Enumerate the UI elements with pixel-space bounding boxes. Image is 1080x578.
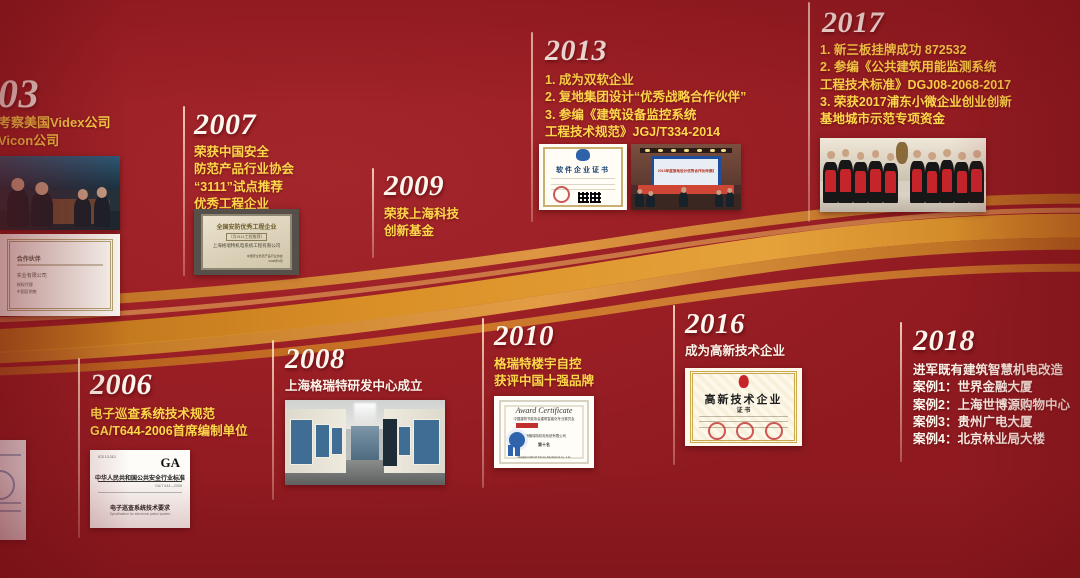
- plaque-face: 全国安防优秀工程企业 （为3111工程推荐） 上海格瑞特机电系统工程有限公司 中…: [194, 209, 299, 275]
- entry-description: 格瑞特楼宇自控 获评中国十强品牌: [494, 356, 684, 391]
- partial-certificate-bottom-left: [0, 440, 26, 540]
- booth-visitor: [7, 189, 29, 227]
- rosette-ribbon: [515, 445, 520, 457]
- year-label: 2010: [494, 322, 554, 351]
- year-label: 2017: [822, 8, 884, 38]
- entry-divider: [78, 358, 80, 538]
- certificate-face: 合作伙伴 实业有限公司 授权代理 中国区销售: [0, 234, 120, 316]
- qr-code: [578, 192, 589, 203]
- entry-divider: [183, 106, 185, 276]
- timeline-entry-2008: 2008 上海格瑞特研发中心成立: [272, 340, 472, 500]
- certificate-note: 授权代理: [17, 282, 33, 288]
- entry-description: 荣获上海科技 创新基金: [384, 206, 534, 241]
- timeline-entry-2010: 2010 格瑞特楼宇自控 获评中国十强品牌 Award Certificate …: [482, 318, 682, 488]
- stage-attendee: [715, 194, 724, 208]
- entry-description: 1. 新三板挂牌成功 872532 2. 参编《公共建筑用能监测系统 工程技术标…: [820, 42, 1080, 128]
- entry-description: 电子巡查系统技术规范 GA/T644-2006首席编制单位: [90, 406, 290, 441]
- year-label: 2013: [545, 36, 607, 66]
- wall-poster: [331, 427, 343, 455]
- team-member: [910, 161, 925, 203]
- team-member: [940, 160, 955, 203]
- entry-divider: [900, 322, 902, 462]
- entry-description: 上海格瑞特研发中心成立: [285, 378, 475, 395]
- timeline-entry-2016: 2016 成为高新技术企业 高新技术企业 证 书: [673, 305, 863, 465]
- certificate-seal: [765, 422, 783, 440]
- certificate-face: 高新技术企业 证 书: [685, 368, 802, 446]
- timeline-entry-2003: 03 考察美国Videx公司 Vicon公司 合作伙伴 实业有限公司 授权代理: [0, 70, 138, 320]
- booth-visitor: [94, 196, 111, 227]
- certificate-title: 软件企业证书: [539, 165, 627, 175]
- entry-divider: [808, 2, 810, 222]
- stage-scene: 2013年度复地设计优秀合作伙伴颁奖仪式: [631, 144, 741, 210]
- certificate-emblem: [576, 149, 590, 160]
- plaque-issuer: 中国安全防范产品行业协会: [203, 254, 282, 258]
- document-subject: 电子巡查系统技术要求: [90, 503, 190, 512]
- high-tech-enterprise-certificate: 高新技术企业 证 书: [685, 368, 802, 446]
- ceiling-light: [354, 403, 376, 425]
- screen-text: 2013年度复地设计优秀合作伙伴颁奖仪式: [658, 169, 715, 174]
- entry-divider: [673, 305, 675, 465]
- certificate-subtitle: 中国建筑节能协会建筑智能化专业委员会: [494, 416, 594, 421]
- ga-standard-document: ICS 13.310 GA 中华人民共和国公共安全行业标准 GA/T 644—2…: [90, 450, 190, 528]
- lighting-truss: [640, 148, 732, 153]
- partnership-certificate: 合作伙伴 实业有限公司 授权代理 中国区销售: [0, 234, 120, 316]
- rd-center-corridor-photo: [285, 400, 445, 485]
- plaque-title: 全国安防优秀工程企业: [203, 222, 289, 231]
- entry-description: 1. 成为双软企业 2. 复地集团设计“优秀战略合作伙伴” 3. 参编《建筑设备…: [545, 72, 795, 141]
- wall-poster: [413, 419, 441, 465]
- excellent-engineering-enterprise-plaque: 全国安防优秀工程企业 （为3111工程推荐） 上海格瑞特机电系统工程有限公司 中…: [194, 209, 299, 275]
- certificate-subtitle: 证 书: [685, 405, 802, 414]
- year-label: 2007: [194, 110, 256, 140]
- year-label: 2008: [285, 345, 345, 374]
- timeline-entry-2007: 2007 荣获中国安全 防范产品行业协会 “3111”试点推荐 优秀工程企业 全…: [183, 106, 363, 276]
- rosette-ribbon: [508, 445, 513, 457]
- doorway: [383, 419, 397, 467]
- stage-attendee: [646, 194, 655, 207]
- team-member: [883, 163, 898, 203]
- stage-attendee: [726, 192, 735, 207]
- team-member: [954, 162, 969, 203]
- hanging-bell: [896, 142, 908, 164]
- year-label: 2018: [913, 326, 975, 356]
- award-certificate: Award Certificate 中国建筑节能协会建筑智能化专业委员会 上海格…: [494, 396, 594, 468]
- certificate-english: Shanghai GREAT Electro-Mechanical Co., L…: [494, 456, 594, 459]
- entry-divider: [482, 318, 484, 488]
- certificate-face: 软件企业证书: [539, 144, 627, 210]
- entry-divider: [372, 168, 374, 258]
- team-member: [823, 162, 838, 203]
- year-label: 03: [0, 74, 39, 114]
- team-group-photo: [820, 138, 986, 212]
- certificate-face: Award Certificate 中国建筑节能协会建筑智能化专业委员会 上海格…: [494, 396, 594, 468]
- certificate-title: Award Certificate: [494, 406, 594, 415]
- certificate-title: 合作伙伴: [17, 254, 41, 263]
- group-scene: [820, 138, 986, 212]
- team-member: [868, 161, 883, 203]
- wall-poster: [290, 419, 313, 465]
- timeline-entry-2018: 2018 进军既有建筑智慧机电改造 案例1：世界金融大厦 案例2：上海世博源购物…: [900, 322, 1080, 462]
- certificate-face: [0, 440, 26, 540]
- team-member: [838, 160, 853, 203]
- brand-bar: [516, 423, 538, 428]
- certificate-emblem: [0, 470, 15, 500]
- team-member: [853, 162, 868, 203]
- document-number: GA/T 644—2006: [90, 484, 182, 488]
- team-member: [925, 162, 940, 203]
- corridor-scene: [285, 400, 445, 485]
- wall-poster: [315, 424, 330, 458]
- entry-description: 考察美国Videx公司 Vicon公司: [0, 114, 198, 150]
- year-label: 2016: [685, 310, 745, 339]
- wall-poster: [398, 426, 411, 457]
- year-label: 2009: [384, 172, 444, 201]
- document-face: ICS 13.310 GA 中华人民共和国公共安全行业标准 GA/T 644—2…: [90, 450, 190, 528]
- plaque-date: 2008年6月: [203, 259, 282, 263]
- ga-mark: GA: [161, 455, 181, 471]
- timeline-infographic: 03 考察美国Videx公司 Vicon公司 合作伙伴 实业有限公司 授权代理: [0, 0, 1080, 578]
- timeline-entry-2006: 2006 电子巡查系统技术规范 GA/T644-2006首席编制单位 ICS 1…: [78, 358, 293, 538]
- corridor-end: [351, 426, 380, 460]
- timeline-entry-2013: 2013 1. 成为双软企业 2. 复地集团设计“优秀战略合作伙伴” 3. 参编…: [531, 32, 791, 222]
- conference-stage-photo: 2013年度复地设计优秀合作伙伴颁奖仪式: [631, 144, 741, 210]
- timeline-entry-2017: 2017 1. 新三板挂牌成功 872532 2. 参编《公共建筑用能监测系统 …: [808, 2, 1073, 222]
- certificate-note: 中国区销售: [17, 289, 37, 295]
- entry-divider: [531, 32, 533, 222]
- qr-code: [590, 192, 601, 203]
- plaque-inner: 全国安防优秀工程企业 （为3111工程推荐） 上海格瑞特机电系统工程有限公司 中…: [201, 214, 291, 271]
- plaque-pill: （为3111工程推荐）: [226, 233, 267, 241]
- entry-description: 成为高新技术企业: [685, 343, 865, 360]
- timeline-entry-2009: 2009 荣获上海科技 创新基金: [372, 168, 532, 258]
- plaque-company: 上海格瑞特机电系统工程有限公司: [203, 243, 289, 249]
- year-label: 2006: [90, 370, 152, 400]
- booth-scene: [0, 156, 120, 230]
- booth-visitor: [74, 197, 91, 227]
- certificate-company: 实业有限公司: [17, 272, 47, 279]
- booth-visitor: [31, 192, 53, 228]
- entry-description: 进军既有建筑智慧机电改造 案例1：世界金融大厦 案例2：上海世博源购物中心 案例…: [913, 362, 1080, 448]
- software-enterprise-certificate: 软件企业证书: [539, 144, 627, 210]
- entry-description: 荣获中国安全 防范产品行业协会 “3111”试点推荐 优秀工程企业: [194, 144, 364, 213]
- expo-booth-photo: [0, 156, 120, 230]
- stage-attendee: [635, 193, 644, 208]
- document-english-title: Specification for electronic patrol syst…: [90, 512, 190, 516]
- stage-attendee: [679, 192, 688, 208]
- document-code: ICS 13.310: [98, 455, 116, 459]
- entry-divider: [272, 340, 274, 500]
- flame-emblem: [738, 375, 749, 388]
- team-member: [969, 161, 984, 203]
